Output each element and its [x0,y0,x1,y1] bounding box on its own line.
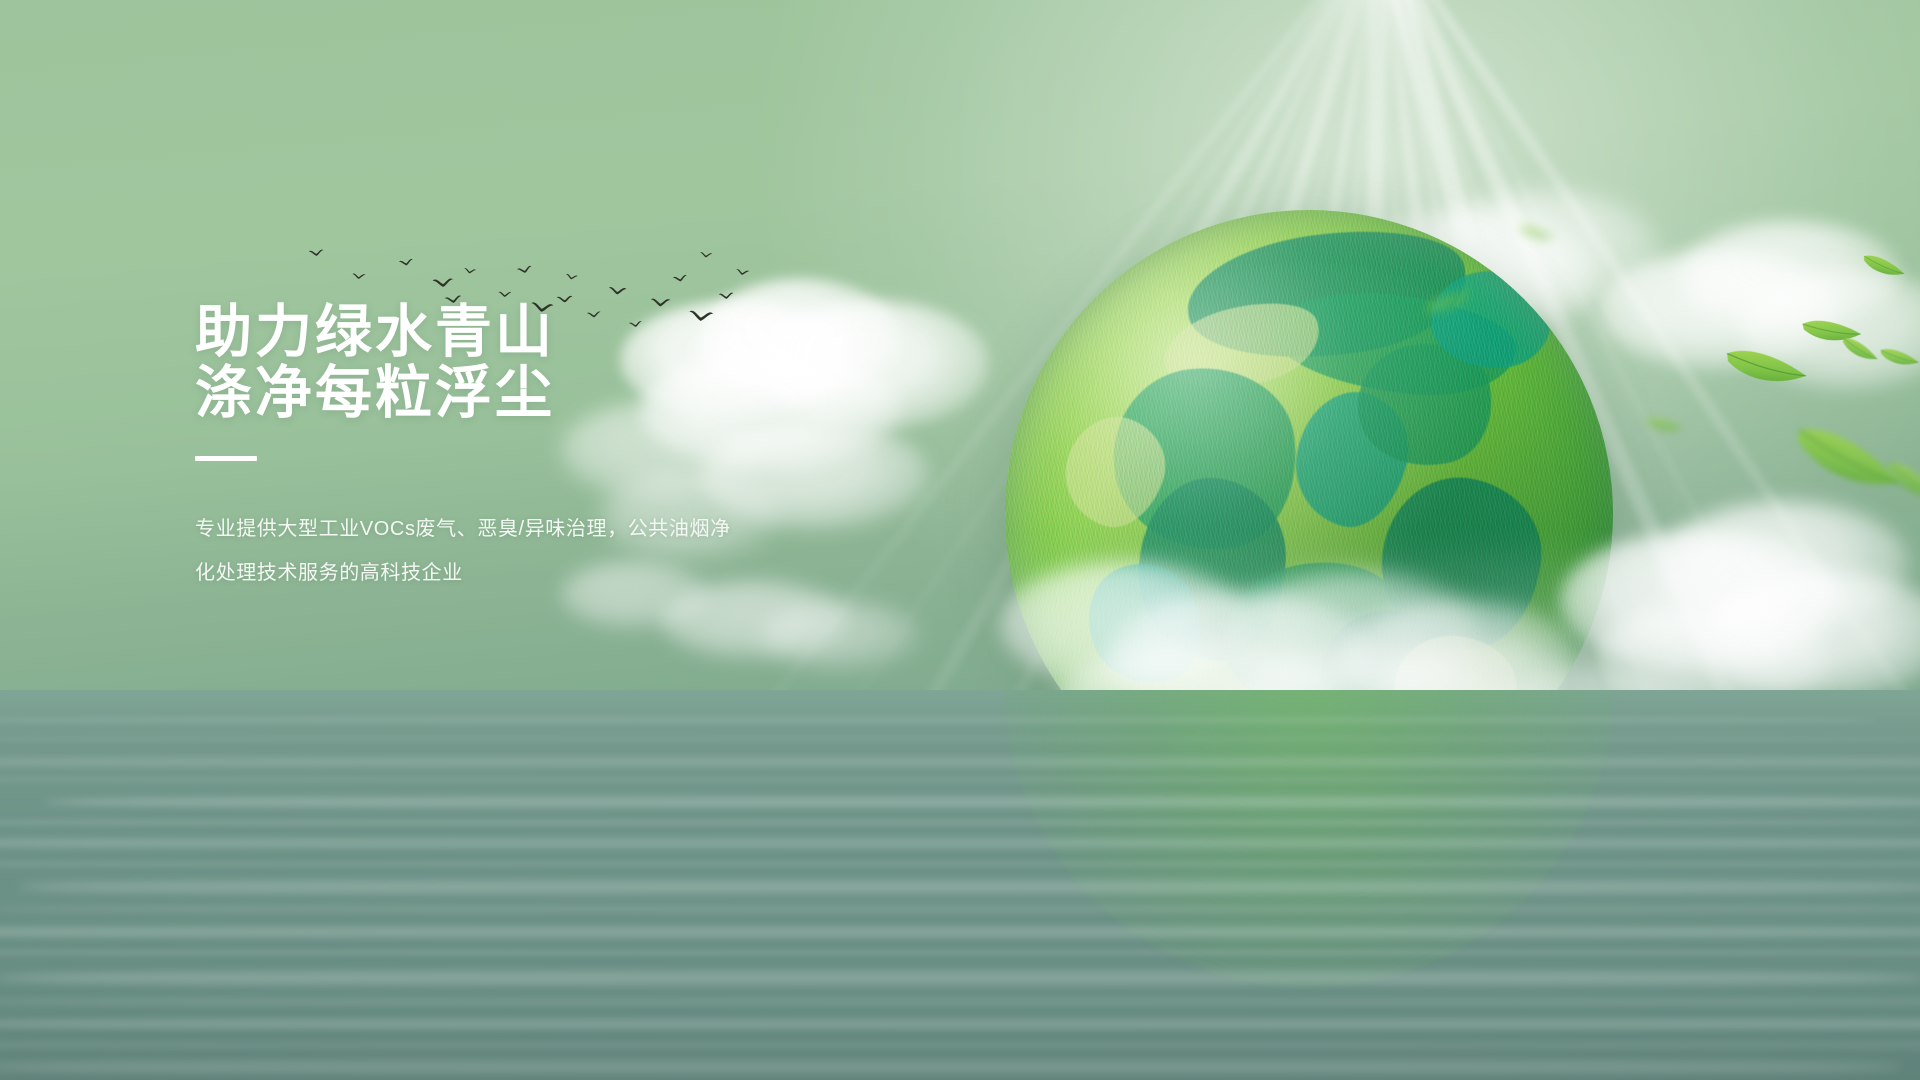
water-surface [0,690,1920,1080]
water-ripple [0,904,1920,914]
water-ripple [0,818,1920,827]
headline-line-1: 助力绿水青山 [195,302,815,363]
water-ripple [0,1040,1920,1050]
page-title: 助力绿水青山 涤净每粒浮尘 [195,302,815,424]
globe-water-reflection [1005,690,1613,988]
headline-line-2: 涤净每粒浮尘 [195,363,815,424]
subtitle-line-1: 专业提供大型工业VOCs废气、恶臭/异味治理，公共油烟净 [195,507,735,551]
water-ripple [0,716,1877,724]
hero-banner: 助力绿水青山 涤净每粒浮尘 专业提供大型工业VOCs废气、恶臭/异味治理，公共油… [0,0,1920,1080]
water-ripple [0,948,1920,957]
water-ripple [0,836,1920,850]
water-ripple [0,924,1920,940]
water-ripple [18,878,1920,896]
water-ripple [0,1016,1920,1032]
water-ripple [0,1058,1902,1076]
water-ripple [0,736,1920,742]
water-ripple [43,794,1920,810]
water-ripple [0,996,1920,1007]
banner-subtitle: 专业提供大型工业VOCs废气、恶臭/异味治理，公共油烟净 化处理技术服务的高科技… [195,507,735,595]
water-ripple [0,756,1920,768]
title-divider [195,456,257,461]
water-ripple [0,776,1920,783]
banner-copy: 助力绿水青山 涤净每粒浮尘 专业提供大型工业VOCs废气、恶臭/异味治理，公共油… [195,302,815,595]
water-ripple [0,860,1920,868]
water-ripple [0,968,1920,988]
subtitle-line-2: 化处理技术服务的高科技企业 [195,551,735,595]
